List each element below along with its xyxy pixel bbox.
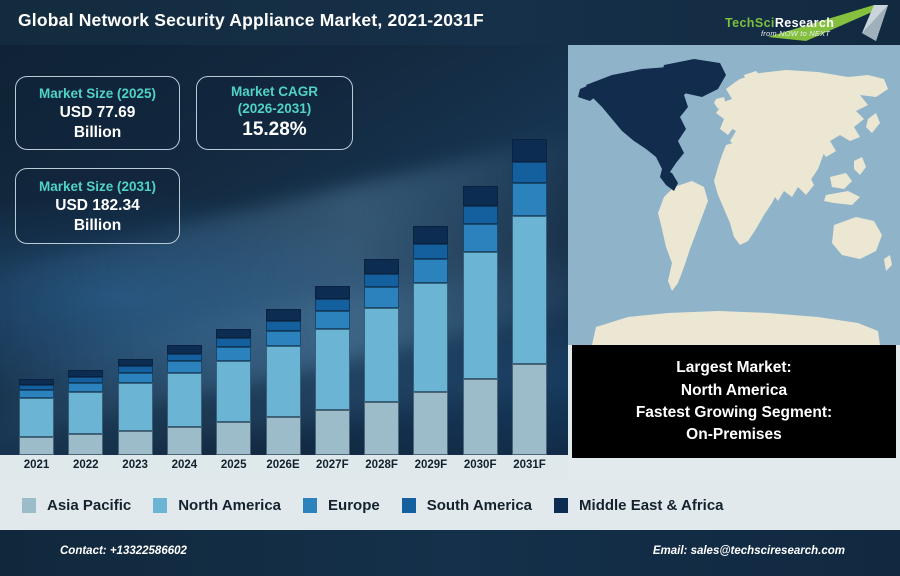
legend-swatch-icon [153,498,167,513]
footer-email: Email: sales@techsciresearch.com [653,545,845,557]
logo-text-research: Research [775,16,835,30]
bar-segment-middle-east-africa [512,139,547,162]
bar-segment-europe [413,259,448,283]
legend-swatch-icon [303,498,317,513]
stat-card-market-size-2025: Market Size (2025) USD 77.69 Billion [15,76,180,150]
bar-segment-south-america [167,354,202,362]
bar-2024 [167,345,202,455]
stat-unit: Billion [16,216,179,236]
bar-segment-north-america [266,346,301,417]
chart-x-axis: 202120222023202420252026E2027F2028F2029F… [0,455,568,480]
bar-2021 [19,379,54,455]
bar-segment-europe [118,373,153,383]
bar-segment-asia-pacific [315,410,350,455]
stat-subtitle: (2026-2031) [197,101,352,118]
key-insights-box: Largest Market: North America Fastest Gr… [572,345,896,458]
bar-segment-europe [512,183,547,216]
x-axis-label-2021: 2021 [10,459,64,471]
world-map [568,45,900,345]
bar-segment-south-america [463,206,498,224]
bar-2022 [68,370,103,455]
x-axis-label-2025: 2025 [207,459,261,471]
bar-2026E [266,309,301,455]
bar-2027F [315,286,350,455]
x-axis-label-2030F: 2030F [453,459,507,471]
chart-legend: Asia PacificNorth AmericaEuropeSouth Ame… [0,480,900,530]
legend-item-north-america[interactable]: North America [153,497,281,514]
bar-segment-north-america [512,216,547,364]
bar-segment-asia-pacific [118,431,153,455]
fastest-segment-label: Fastest Growing Segment: [578,402,890,423]
x-axis-label-2024: 2024 [157,459,211,471]
bar-segment-south-america [315,299,350,311]
bar-segment-asia-pacific [68,434,103,455]
bar-segment-europe [19,390,54,398]
logo-wordmark: TechSciResearch [725,16,834,30]
bar-segment-north-america [216,361,251,423]
bar-2030F [463,186,498,455]
bar-segment-north-america [315,329,350,410]
x-axis-label-2029F: 2029F [404,459,458,471]
bar-segment-europe [463,224,498,252]
bar-segment-north-america [364,308,399,402]
bar-segment-south-america [413,244,448,259]
bar-2029F [413,226,448,455]
bar-segment-south-america [216,338,251,347]
bar-segment-north-america [463,252,498,379]
bar-segment-north-america [19,398,54,436]
legend-swatch-icon [402,498,416,513]
legend-item-europe[interactable]: Europe [303,497,380,514]
bar-segment-north-america [118,383,153,431]
bar-2028F [364,259,399,455]
bar-segment-asia-pacific [364,402,399,455]
x-axis-label-2027F: 2027F [305,459,359,471]
techsci-logo: TechSciResearch from NOW to NEXT [717,2,892,44]
bar-2031F [512,139,547,455]
footer-bar: Contact: +13322586602 Email: sales@techs… [0,530,900,576]
legend-item-asia-pacific[interactable]: Asia Pacific [22,497,131,514]
legend-label: South America [427,497,532,514]
fastest-segment-value: On-Premises [578,424,890,445]
bar-segment-asia-pacific [463,379,498,455]
legend-swatch-icon [22,498,36,513]
stat-unit: Billion [16,123,179,143]
stat-title: Market CAGR [197,84,352,101]
x-axis-label-2026E: 2026E [256,459,310,471]
legend-label: Europe [328,497,380,514]
bar-segment-middle-east-africa [364,259,399,274]
legend-label: Middle East & Africa [579,497,723,514]
bar-segment-asia-pacific [216,422,251,455]
bar-segment-south-america [364,274,399,287]
bar-segment-south-america [512,162,547,183]
bar-segment-middle-east-africa [216,329,251,339]
legend-item-middle-east-africa[interactable]: Middle East & Africa [554,497,723,514]
stat-title: Market Size (2025) [16,86,179,103]
stat-value: USD 77.69 [16,103,179,123]
logo-tagline: from NOW to NEXT [761,29,830,38]
bar-segment-asia-pacific [167,427,202,455]
largest-market-value: North America [578,380,890,401]
bar-segment-middle-east-africa [118,359,153,367]
bar-segment-middle-east-africa [68,370,103,377]
stat-title: Market Size (2031) [16,179,179,196]
world-map-svg [568,45,900,345]
bar-segment-south-america [118,366,153,373]
stat-card-market-size-2031: Market Size (2031) USD 182.34 Billion [15,168,180,244]
bar-segment-south-america [266,321,301,331]
legend-label: North America [178,497,281,514]
infographic-root: Global Network Security Appliance Market… [0,0,900,576]
bar-segment-north-america [413,283,448,392]
bar-segment-asia-pacific [19,437,54,455]
stat-card-market-cagr: Market CAGR (2026-2031) 15.28% [196,76,353,150]
legend-label: Asia Pacific [47,497,131,514]
bar-segment-europe [216,347,251,360]
x-axis-label-2023: 2023 [108,459,162,471]
x-axis-label-2031F: 2031F [503,459,557,471]
stat-value: USD 182.34 [16,196,179,216]
legend-item-south-america[interactable]: South America [402,497,532,514]
header-bar: Global Network Security Appliance Market… [0,0,900,45]
bar-segment-middle-east-africa [266,309,301,320]
legend-swatch-icon [554,498,568,513]
bar-segment-asia-pacific [512,364,547,455]
bar-segment-middle-east-africa [413,226,448,243]
bar-segment-north-america [167,373,202,427]
footer-contact: Contact: +13322586602 [60,545,187,557]
bar-2025 [216,329,251,455]
bar-segment-europe [315,311,350,329]
bar-segment-europe [364,287,399,308]
bar-segment-europe [266,331,301,347]
bar-segment-asia-pacific [413,392,448,455]
bar-2023 [118,359,153,455]
bar-segment-middle-east-africa [463,186,498,206]
stat-value: 15.28% [197,118,352,143]
bar-segment-europe [167,361,202,373]
page-title: Global Network Security Appliance Market… [18,10,484,31]
bar-segment-europe [68,383,103,392]
bar-segment-north-america [68,392,103,435]
bar-segment-middle-east-africa [315,286,350,299]
logo-text-techsci: TechSci [725,16,775,30]
x-axis-label-2022: 2022 [59,459,113,471]
bar-segment-middle-east-africa [167,345,202,354]
bar-segment-asia-pacific [266,417,301,455]
x-axis-label-2028F: 2028F [355,459,409,471]
largest-market-label: Largest Market: [578,357,890,378]
